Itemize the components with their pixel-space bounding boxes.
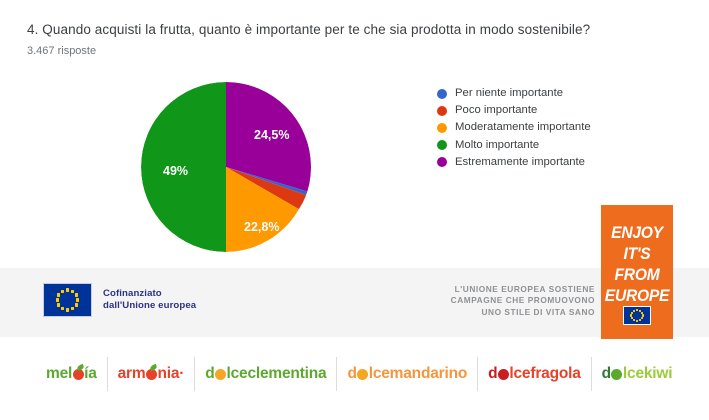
eu-star-icon: [636, 309, 638, 311]
pie-label-moderatamente: 22,8%: [244, 220, 279, 234]
eu-funding-line1: Cofinanziato: [103, 288, 196, 300]
eu-star-icon: [631, 312, 633, 314]
eu-flag-icon: [43, 283, 92, 317]
brand-logo-armonia[interactable]: armnia·: [107, 357, 195, 391]
legend-label: Estremamente importante: [455, 157, 585, 168]
brand-text-tail: lcefragola: [509, 365, 580, 383]
pie-label-molto: 49%: [163, 164, 188, 178]
brand-logo-dolceclementina[interactable]: dlceclementina: [194, 357, 336, 391]
eu-slogan-line2: CAMPAGNE CHE PROMUOVONO: [355, 295, 595, 306]
survey-result-slide: 4. Quando acquisti la frutta, quanto è i…: [0, 0, 709, 420]
brand-fruit-dot-icon: [73, 369, 84, 380]
brand-text-tail: ía: [84, 365, 97, 383]
legend-item-per-niente[interactable]: Per niente importante: [437, 85, 591, 102]
eu-star-icon: [57, 303, 60, 306]
eu-star-icon: [66, 308, 69, 311]
brand-text-pre: d: [347, 365, 356, 383]
eu-star-icon: [75, 303, 78, 306]
eu-star-icon: [56, 298, 59, 301]
brand-text-pre: d: [488, 365, 497, 383]
brand-text-pre: d: [602, 365, 611, 383]
enjoy-its-from-europe-badge: ENJOY IT'S FROM EUROPE: [601, 205, 673, 339]
pie-label-estremamente: 24,5%: [254, 128, 289, 142]
brand-text-tail: nia·: [157, 365, 184, 383]
legend-item-poco[interactable]: Poco importante: [437, 102, 591, 119]
eu-star-icon: [75, 293, 78, 296]
pie-chart: 49% 24,5% 22,8%: [141, 82, 311, 252]
brand-fruit-dot-icon: [498, 369, 509, 380]
brand-logo-dolcekiwi[interactable]: dlcekiwi: [591, 357, 683, 391]
brand-text-pre: mel: [46, 365, 72, 383]
eu-funding-logo: Cofinanziato dall'Unione europea: [43, 283, 196, 317]
leaf-icon: [149, 363, 157, 370]
brand-text-tail: lcekiwi: [623, 365, 672, 383]
enjoy-line1: ENJOY: [604, 222, 670, 243]
eu-star-icon: [636, 320, 638, 322]
page-title: 4. Quando acquisti la frutta, quanto è i…: [27, 22, 687, 37]
eu-star-icon: [71, 290, 74, 293]
eu-star-icon: [641, 317, 643, 319]
eu-flag-icon: [623, 306, 651, 325]
legend-color-swatch-icon: [437, 89, 447, 99]
eu-funding-caption: Cofinanziato dall'Unione europea: [103, 288, 196, 313]
legend-color-swatch-icon: [437, 140, 447, 150]
legend-label: Per niente importante: [455, 88, 563, 99]
brand-text-tail: lceclementina: [227, 365, 327, 383]
brand-text-pre: d: [205, 365, 214, 383]
eu-star-icon: [61, 290, 64, 293]
legend-item-molto[interactable]: Molto importante: [437, 137, 591, 154]
brand-fruit-dot-icon: [611, 369, 622, 380]
enjoy-badge-text: ENJOY IT'S FROM EUROPE: [604, 222, 670, 306]
chart-legend: Per niente importante Poco importante Mo…: [437, 85, 591, 171]
brand-fruit-dot-icon: [146, 369, 157, 380]
enjoy-line2: IT'S FROM: [604, 243, 670, 285]
brand-logo-melodia[interactable]: melía: [36, 357, 107, 391]
brand-fruit-dot-icon: [215, 369, 226, 380]
legend-label: Moderatamente importante: [455, 122, 591, 133]
eu-star-icon: [633, 310, 635, 312]
enjoy-line3: EUROPE: [604, 285, 670, 306]
eu-slogan: L'UNIONE EUROPEA SOSTIENE CAMPAGNE CHE P…: [355, 284, 595, 318]
eu-funding-line2: dall'Unione europea: [103, 300, 196, 312]
brand-logo-dolcemandarino[interactable]: dlcemandarino: [336, 357, 477, 391]
eu-star-icon: [61, 307, 64, 310]
eu-star-icon: [66, 288, 69, 291]
eu-slogan-line1: L'UNIONE EUROPEA SOSTIENE: [355, 284, 595, 295]
legend-label: Poco importante: [455, 105, 537, 116]
brand-text-pre: arm: [118, 365, 146, 383]
legend-label: Molto importante: [455, 140, 539, 151]
legend-color-swatch-icon: [437, 106, 447, 116]
leaf-icon: [76, 363, 84, 370]
eu-star-icon: [57, 293, 60, 296]
legend-color-swatch-icon: [437, 157, 447, 167]
brand-logo-strip: melíaarmnia·dlceclementinadlcemandarinod…: [0, 345, 709, 420]
eu-star-icon: [71, 307, 74, 310]
legend-color-swatch-icon: [437, 123, 447, 133]
eu-slogan-line3: UNO STILE DI VITA SANO: [355, 307, 595, 318]
brand-row: melíaarmnia·dlceclementinadlcemandarinod…: [36, 357, 682, 391]
eu-star-icon: [76, 298, 79, 301]
eu-star-icon: [633, 319, 635, 321]
eu-star-icon: [639, 319, 641, 321]
response-count: 3.467 risposte: [27, 45, 96, 57]
brand-text-tail: lcemandarino: [369, 365, 467, 383]
legend-item-estremamente[interactable]: Estremamente importante: [437, 154, 591, 171]
brand-logo-dolcefragola[interactable]: dlcefragola: [477, 357, 591, 391]
brand-fruit-dot-icon: [357, 369, 368, 380]
legend-item-moderatamente[interactable]: Moderatamente importante: [437, 119, 591, 136]
